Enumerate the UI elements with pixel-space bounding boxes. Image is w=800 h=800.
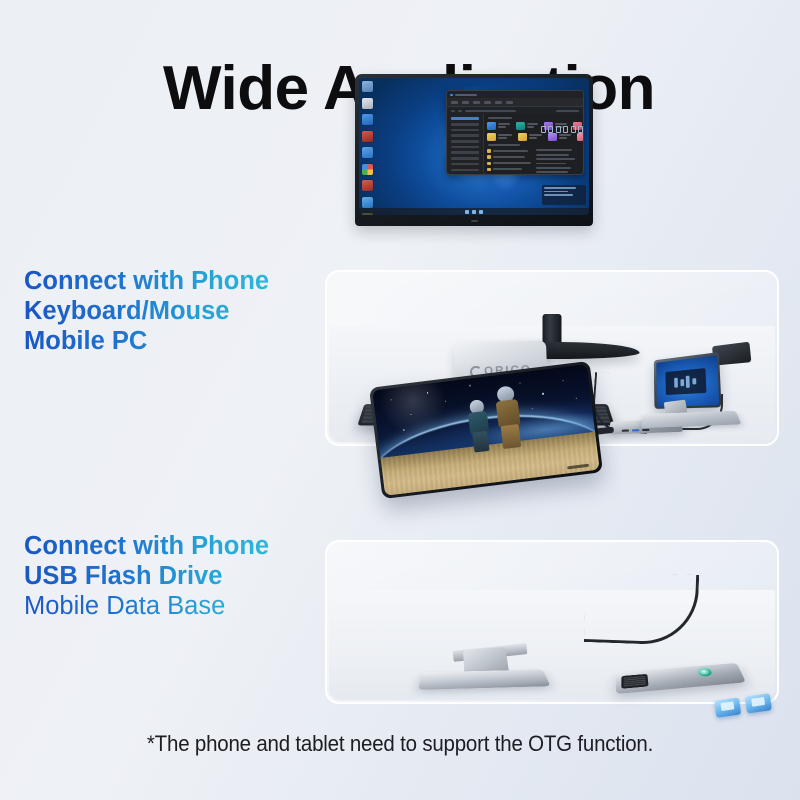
table-row[interactable]	[536, 171, 580, 173]
panel-phone-flash-drive: ORICO	[325, 540, 779, 704]
folder-item[interactable]	[487, 133, 512, 141]
item-label	[529, 133, 542, 139]
quick-access-item[interactable]	[487, 122, 510, 130]
monitor-chin	[355, 215, 593, 226]
caption-2-line-1: Connect with Phone	[24, 531, 269, 561]
file-list	[487, 149, 580, 174]
file-list-column	[536, 149, 580, 174]
desktop-icon-column	[362, 81, 378, 215]
taskbar-icon[interactable]	[479, 210, 483, 214]
item-label	[498, 122, 510, 128]
tablet-assembly	[635, 350, 755, 434]
sidebar-item[interactable]	[451, 129, 479, 132]
forward-icon[interactable]	[458, 110, 462, 112]
item-label	[584, 122, 585, 128]
toolbar-button[interactable]	[473, 101, 480, 104]
section-heading-recent	[488, 144, 520, 146]
folder-icon	[487, 133, 496, 141]
usb-flash-drives	[714, 693, 772, 718]
quick-access-item[interactable]	[516, 122, 538, 130]
toolbar-button[interactable]	[484, 101, 491, 104]
taskbar-start-icon[interactable]	[465, 210, 469, 214]
suit-legs	[473, 431, 490, 452]
item-label	[498, 133, 512, 139]
usb-flash-drive	[714, 698, 741, 718]
explorer-address-bar[interactable]	[447, 107, 583, 114]
explorer-toolbar[interactable]	[447, 98, 583, 107]
sidebar-item[interactable]	[451, 163, 479, 166]
table-row[interactable]	[487, 162, 531, 166]
toolbar-button[interactable]	[506, 101, 513, 104]
explorer-title-text	[455, 94, 477, 96]
toolbar-button[interactable]	[495, 101, 502, 104]
table-row[interactable]	[487, 155, 531, 159]
poster-stage: Wide Application Connect with Phone Keyb…	[0, 0, 800, 800]
folding-stand	[418, 669, 550, 689]
caption-2-line-3: Mobile Data Base	[24, 591, 269, 621]
explorer-body	[447, 114, 583, 174]
caption-phone-usb-flash-drive: Connect with Phone USB Flash Drive Mobil…	[24, 531, 269, 621]
desktop-icon[interactable]	[362, 98, 373, 109]
product-scene-2: ORICO	[327, 432, 777, 702]
status-led-icon	[698, 668, 713, 677]
table-row[interactable]	[536, 167, 580, 169]
drive-icon	[487, 122, 496, 130]
hub-connector-end	[621, 674, 648, 689]
windows-taskbar[interactable]	[359, 208, 589, 215]
back-icon[interactable]	[451, 110, 455, 112]
explorer-titlebar[interactable]	[447, 91, 583, 98]
caption-phone-keyboard-mouse: Connect with Phone Keyboard/Mouse Mobile…	[24, 266, 269, 356]
file-list-column	[487, 149, 531, 174]
tablet	[654, 352, 722, 409]
desktop-icon[interactable]	[362, 114, 373, 125]
table-row[interactable]	[487, 174, 531, 175]
phone-screen	[372, 364, 599, 496]
explorer-sidebar[interactable]	[447, 114, 484, 174]
sidebar-item[interactable]	[451, 157, 479, 160]
table-row[interactable]	[536, 163, 580, 165]
desktop-icon[interactable]	[362, 164, 373, 175]
desktop-icon[interactable]	[362, 81, 373, 92]
sidebar-item[interactable]	[451, 151, 479, 154]
sidebar-item[interactable]	[451, 134, 479, 137]
search-input[interactable]	[556, 110, 579, 112]
folder-icon	[518, 133, 527, 141]
desktop-icon[interactable]	[362, 147, 373, 158]
table-row[interactable]	[536, 149, 580, 151]
explorer-app-icon	[450, 94, 453, 97]
flash-hub	[616, 663, 746, 694]
folder-icon	[548, 133, 557, 141]
caption-1-line-3: Mobile PC	[24, 326, 269, 356]
suit-legs	[501, 424, 521, 449]
taskbar-icon[interactable]	[472, 210, 476, 214]
folder-icon	[577, 133, 584, 141]
desktop-note-widget	[542, 185, 586, 205]
folder-item[interactable]	[518, 133, 542, 141]
toolbar-button[interactable]	[462, 101, 469, 104]
sidebar-item[interactable]	[451, 123, 479, 126]
table-row[interactable]	[487, 168, 531, 172]
monitor-screen	[359, 78, 589, 215]
desktop-icon[interactable]	[362, 197, 373, 208]
folder-item[interactable]	[577, 133, 584, 141]
sidebar-item[interactable]	[451, 146, 479, 149]
desktop-icon[interactable]	[362, 131, 373, 142]
caption-1-line-2: Keyboard/Mouse	[24, 296, 269, 326]
address-path[interactable]	[465, 110, 516, 112]
footnote-otg-requirement: *The phone and tablet need to support th…	[28, 731, 772, 757]
monitor	[355, 74, 593, 226]
folding-stand	[641, 411, 741, 428]
folder-tiles	[487, 133, 580, 141]
tablet-app-window	[665, 368, 706, 395]
monitor-bezel	[355, 74, 593, 226]
caption-2-line-2: USB Flash Drive	[24, 561, 269, 591]
tablet-screen	[656, 355, 719, 406]
section-heading-quick-access	[488, 117, 512, 119]
item-label	[527, 122, 538, 128]
screen-widget-dots	[541, 126, 584, 133]
item-label	[559, 133, 571, 139]
usb-c-cable	[584, 571, 699, 646]
desktop-icon[interactable]	[362, 180, 373, 191]
caption-1-line-1: Connect with Phone	[24, 266, 269, 296]
sidebar-item[interactable]	[451, 117, 479, 120]
folder-item[interactable]	[548, 133, 571, 141]
toolbar-button[interactable]	[451, 101, 458, 104]
sidebar-item[interactable]	[451, 169, 479, 172]
explorer-content	[484, 114, 583, 174]
table-row[interactable]	[487, 149, 531, 153]
sidebar-item[interactable]	[451, 140, 479, 143]
drive-icon	[516, 122, 525, 130]
table-row[interactable]	[536, 158, 580, 160]
usb-flash-drive	[745, 693, 772, 713]
table-row[interactable]	[536, 154, 580, 156]
